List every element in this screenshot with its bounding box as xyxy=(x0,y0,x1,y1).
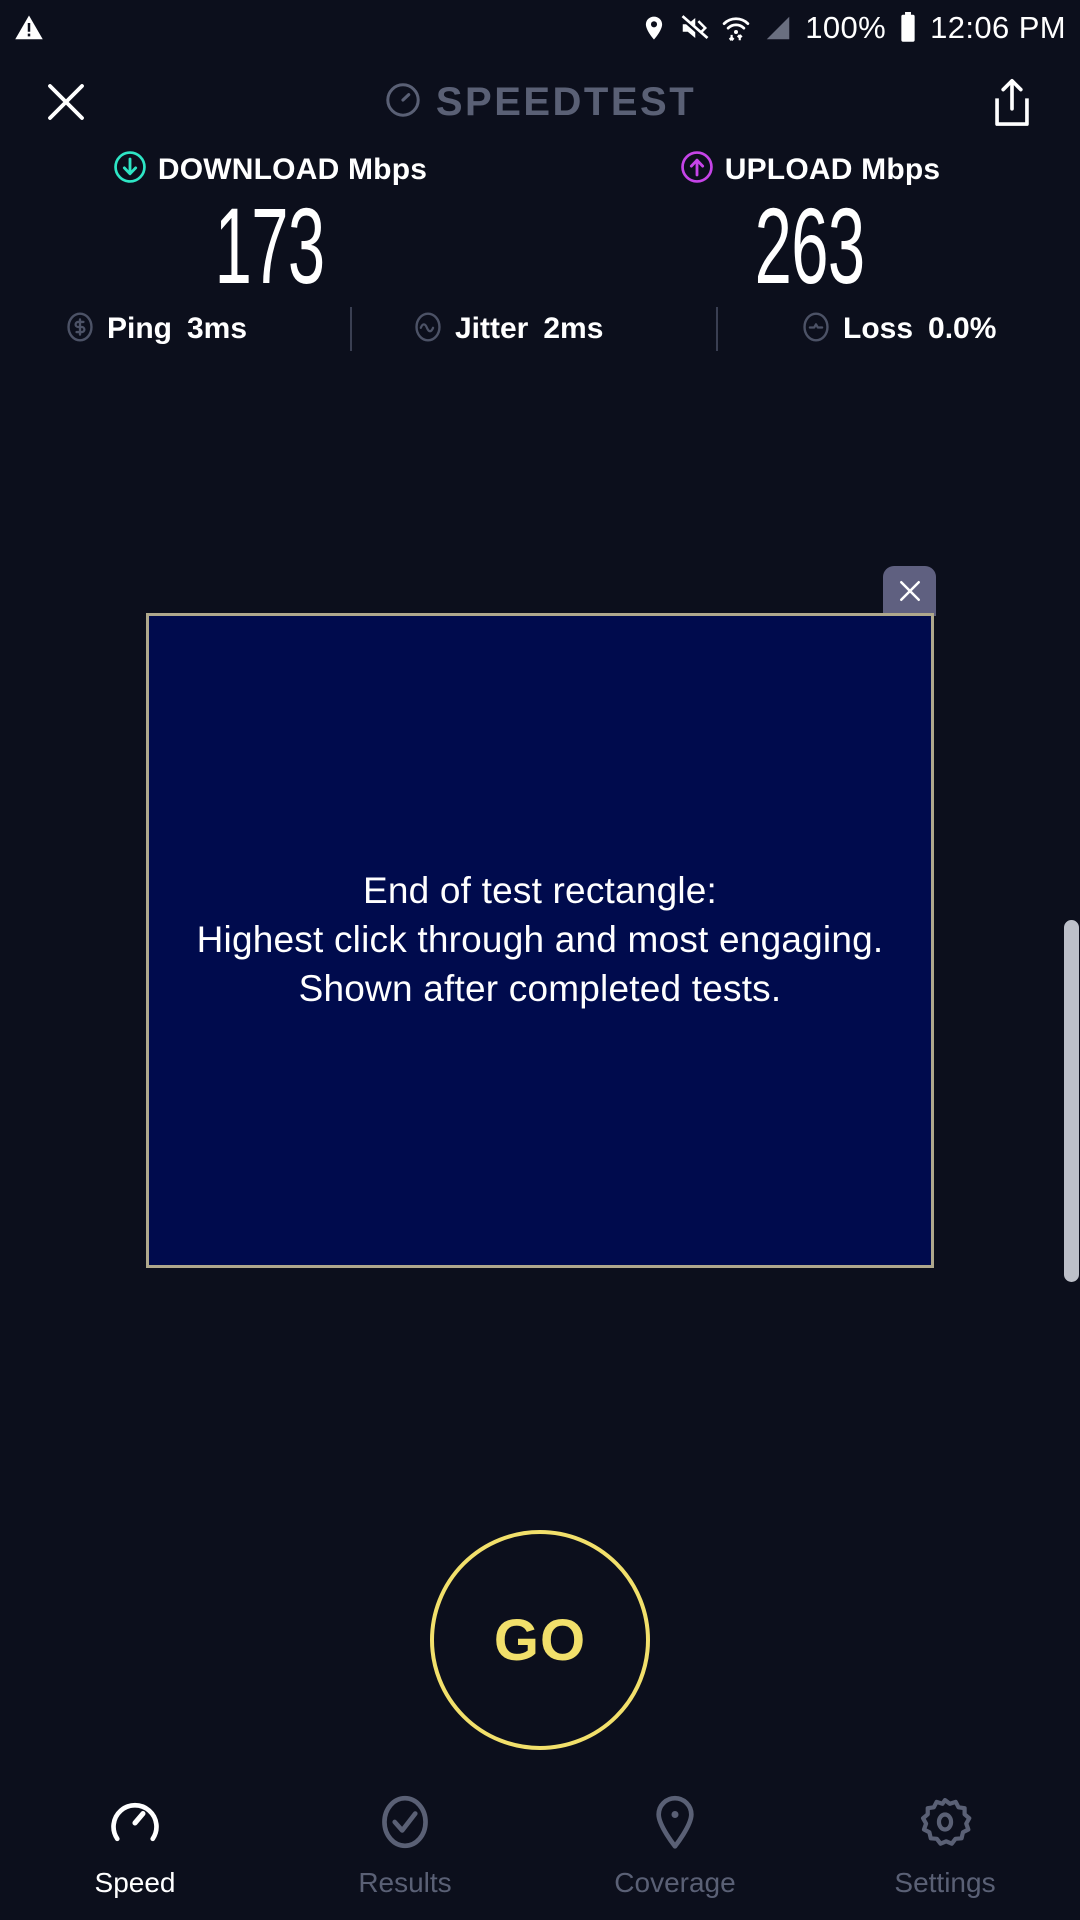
nav-label-speed: Speed xyxy=(95,1867,176,1899)
metric-ping-label: Ping xyxy=(107,312,172,346)
download-upload-row: DOWNLOAD Mbps 173 UPLOAD Mbps 263 xyxy=(0,150,1080,301)
go-button-label: GO xyxy=(494,1607,586,1674)
metric-ping-value: 3ms xyxy=(187,312,247,346)
close-icon[interactable] xyxy=(38,74,94,130)
jitter-icon xyxy=(412,311,444,348)
upload-result: UPLOAD Mbps 263 xyxy=(540,150,1080,301)
nav-item-speed[interactable]: Speed xyxy=(0,1780,270,1920)
ad-close-icon xyxy=(895,576,925,606)
nav-label-results: Results xyxy=(358,1867,451,1899)
check-circle-icon xyxy=(377,1794,433,1855)
nav-label-coverage: Coverage xyxy=(614,1867,735,1899)
speedtest-app-screen: 100% 12:06 PM SPEEDTEST xyxy=(0,0,1080,1920)
nav-item-results[interactable]: Results xyxy=(270,1780,540,1920)
advertisement-banner[interactable]: End of test rectangle: Highest click thr… xyxy=(146,613,934,1268)
metric-jitter: Jitter 2ms xyxy=(412,311,603,348)
ping-icon xyxy=(64,311,96,348)
results-panel: DOWNLOAD Mbps 173 UPLOAD Mbps 263 xyxy=(0,150,1080,301)
metric-loss-value: 0.0% xyxy=(928,312,996,346)
metrics-divider-1 xyxy=(350,307,352,351)
bottom-navigation: Speed Results Coverage xyxy=(0,1780,1080,1920)
clock-label: 12:06 PM xyxy=(930,10,1066,46)
metrics-divider-2 xyxy=(716,307,718,351)
nav-item-coverage[interactable]: Coverage xyxy=(540,1780,810,1920)
nav-label-settings: Settings xyxy=(894,1867,995,1899)
upload-label-row: UPLOAD Mbps xyxy=(680,150,941,189)
ad-text-line-2: Highest click through and most engaging. xyxy=(197,916,884,965)
upload-value: 263 xyxy=(755,191,865,301)
battery-full-icon xyxy=(898,12,918,44)
metric-ping: Ping 3ms xyxy=(64,311,247,348)
arrow-down-circle-icon xyxy=(113,150,147,189)
metric-loss: Loss 0.0% xyxy=(800,311,996,348)
status-bar: 100% 12:06 PM xyxy=(0,0,1080,55)
cell-signal-icon xyxy=(763,13,793,43)
metric-jitter-label: Jitter xyxy=(455,312,528,346)
metric-jitter-value: 2ms xyxy=(543,312,603,346)
upload-label: UPLOAD Mbps xyxy=(725,153,941,187)
map-pin-icon xyxy=(647,1794,703,1855)
status-bar-left xyxy=(14,13,44,43)
download-label: DOWNLOAD Mbps xyxy=(158,153,427,187)
wifi-icon xyxy=(721,13,751,43)
ad-text-line-3: Shown after completed tests. xyxy=(197,965,884,1014)
go-button[interactable]: GO xyxy=(430,1530,650,1750)
metric-loss-label: Loss xyxy=(843,312,913,346)
volume-muted-icon xyxy=(679,13,709,43)
ad-text-line-1: End of test rectangle: xyxy=(197,867,884,916)
download-result: DOWNLOAD Mbps 173 xyxy=(0,150,540,301)
speedometer-icon xyxy=(384,81,422,124)
gear-icon xyxy=(917,1794,973,1855)
ad-text: End of test rectangle: Highest click thr… xyxy=(197,867,884,1013)
speedometer-icon xyxy=(107,1794,163,1855)
arrow-up-circle-icon xyxy=(680,150,714,189)
location-pin-icon xyxy=(641,13,667,43)
ad-close-button[interactable] xyxy=(883,566,936,616)
scrollbar-thumb[interactable] xyxy=(1064,920,1079,1282)
status-bar-right: 100% 12:06 PM xyxy=(641,10,1066,46)
app-title: SPEEDTEST xyxy=(436,80,696,125)
app-header: SPEEDTEST xyxy=(0,58,1080,146)
metrics-row: Ping 3ms Jitter 2ms Loss 0.0 xyxy=(0,305,1080,353)
share-icon[interactable] xyxy=(984,74,1040,132)
loss-icon xyxy=(800,311,832,348)
battery-percent-label: 100% xyxy=(805,10,886,46)
download-label-row: DOWNLOAD Mbps xyxy=(113,150,427,189)
download-value: 173 xyxy=(215,191,325,301)
app-brand: SPEEDTEST xyxy=(0,58,1080,146)
page-scrollbar[interactable] xyxy=(1064,920,1080,1282)
nav-item-settings[interactable]: Settings xyxy=(810,1780,1080,1920)
warning-triangle-icon xyxy=(14,13,44,43)
